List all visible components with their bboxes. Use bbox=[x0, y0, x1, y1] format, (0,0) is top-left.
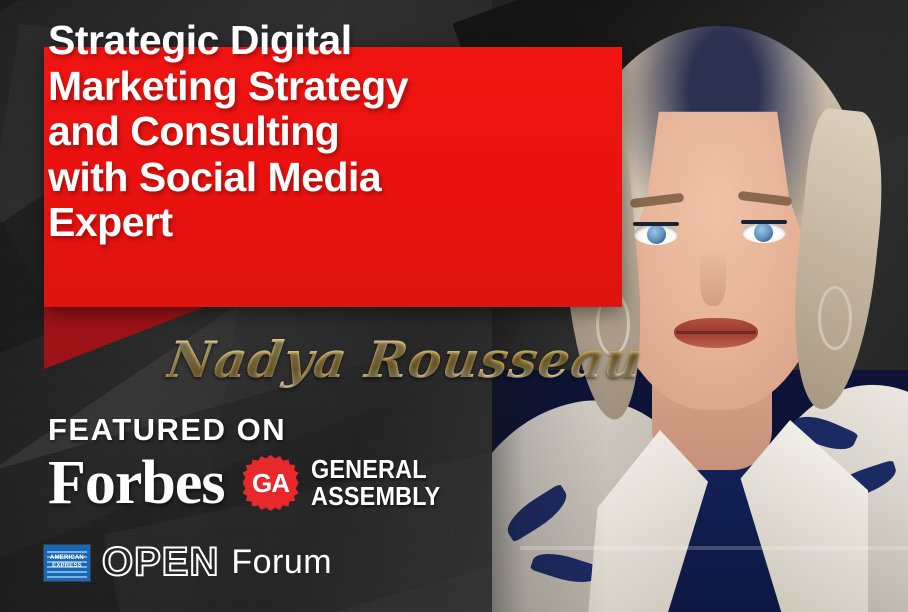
forum-wordmark: Forum bbox=[231, 543, 332, 582]
general-assembly-line-1: GENERAL bbox=[311, 456, 440, 483]
headline-title: Strategic Digital Marketing Strategy and… bbox=[48, 18, 568, 246]
portrait-iris-right bbox=[754, 223, 773, 242]
american-express-icon: AMERICAN EXPRESS bbox=[44, 545, 90, 581]
forbes-logo: Forbes bbox=[48, 452, 225, 514]
open-wordmark: OPEN bbox=[102, 540, 219, 585]
featured-logo-row: Forbes GA GENERAL ASSEMBLY bbox=[48, 452, 454, 514]
portrait-eyeliner-left bbox=[633, 222, 679, 226]
general-assembly-line-2: ASSEMBLY bbox=[311, 483, 440, 510]
featured-on-heading: FEATURED ON bbox=[48, 412, 286, 448]
portrait-eyeliner-right bbox=[741, 220, 787, 224]
portrait-iris-left bbox=[647, 225, 666, 244]
promo-graphic: Strategic Digital Marketing Strategy and… bbox=[0, 0, 908, 612]
open-forum-logo: AMERICAN EXPRESS OPEN Forum bbox=[44, 540, 332, 585]
bottom-light-band bbox=[520, 546, 908, 550]
portrait-hoop-earring-right bbox=[818, 286, 852, 350]
portrait-nose bbox=[700, 248, 726, 306]
american-express-label: AMERICAN EXPRESS bbox=[44, 555, 90, 570]
portrait-lip-line bbox=[676, 331, 756, 334]
ga-badge-icon: GA bbox=[243, 455, 299, 511]
general-assembly-logo: GA GENERAL ASSEMBLY bbox=[243, 455, 455, 511]
presenter-name: Nadya Rousseau bbox=[164, 330, 646, 389]
general-assembly-wordmark: GENERAL ASSEMBLY bbox=[311, 456, 440, 509]
